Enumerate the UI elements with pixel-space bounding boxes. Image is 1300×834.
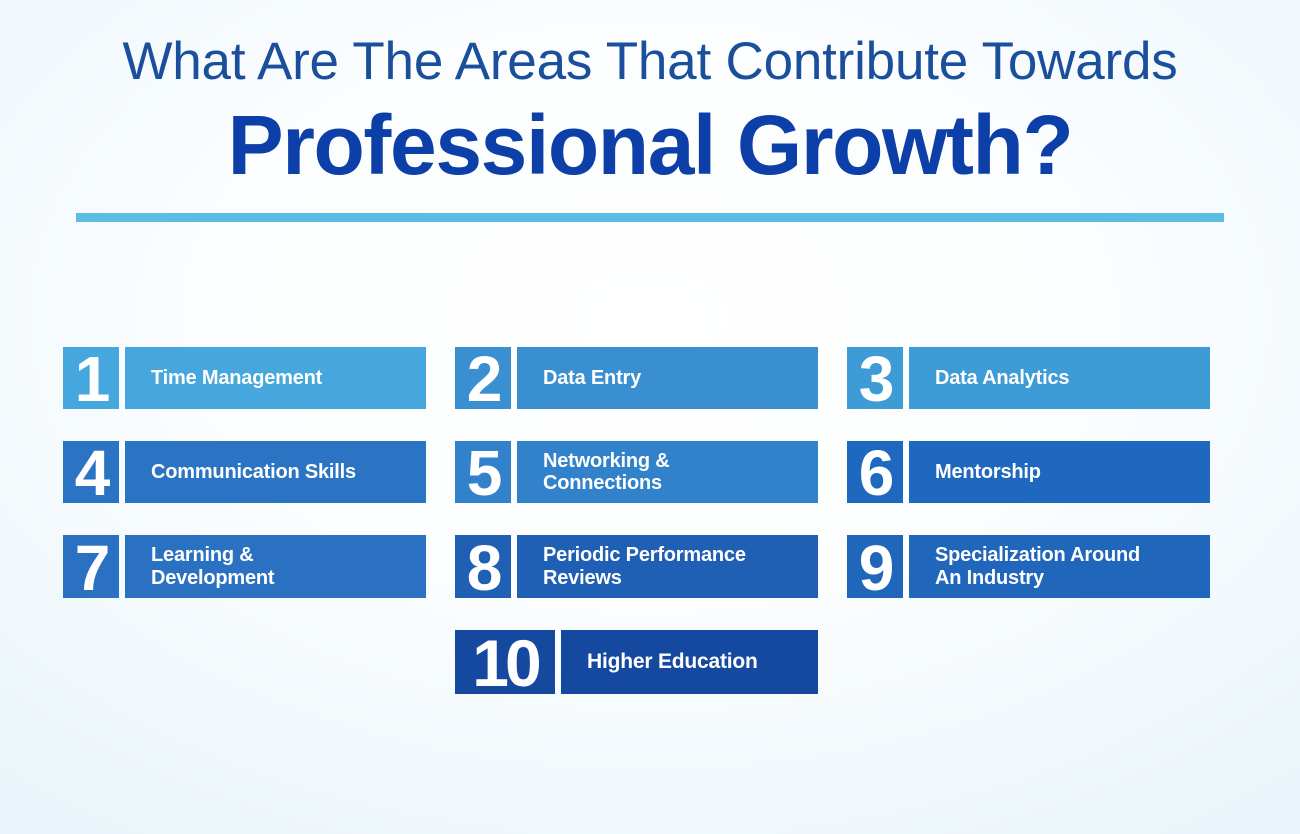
item-label: Specialization Around An Industry: [935, 544, 1140, 589]
item-label: Mentorship: [935, 461, 1041, 483]
list-item[interactable]: 5 Networking & Connections: [455, 441, 818, 503]
item-bar: Learning & Development: [125, 535, 426, 598]
list-item[interactable]: 8 Periodic Performance Reviews: [455, 535, 818, 598]
list-item[interactable]: 6 Mentorship: [847, 441, 1210, 503]
item-bar: Data Analytics: [909, 347, 1210, 409]
header: What Are The Areas That Contribute Towar…: [0, 0, 1300, 222]
item-number: 3: [859, 347, 892, 411]
items-row-2: 4 Communication Skills 5 Networking & Co…: [63, 441, 1210, 503]
item-label: Periodic Performance Reviews: [543, 544, 746, 589]
item-number-block: 1: [63, 347, 119, 409]
item-bar: Periodic Performance Reviews: [517, 535, 818, 598]
items-row-4: 10 Higher Education: [63, 630, 1210, 694]
list-item[interactable]: 9 Specialization Around An Industry: [847, 535, 1210, 598]
item-number-block: 6: [847, 441, 903, 503]
item-number: 2: [467, 347, 500, 411]
item-bar: Data Entry: [517, 347, 818, 409]
item-label: Higher Education: [587, 650, 758, 674]
title-underline-rule: [76, 213, 1224, 222]
item-number-block: 8: [455, 535, 511, 598]
item-number: 7: [75, 536, 108, 600]
infographic-page: What Are The Areas That Contribute Towar…: [0, 0, 1300, 834]
item-number-block: 4: [63, 441, 119, 503]
item-number-block: 5: [455, 441, 511, 503]
list-item[interactable]: 10 Higher Education: [455, 630, 818, 694]
item-number: 4: [75, 441, 108, 505]
item-bar: Specialization Around An Industry: [909, 535, 1210, 598]
list-item[interactable]: 2 Data Entry: [455, 347, 818, 409]
item-label: Learning & Development: [151, 544, 274, 589]
item-number-block: 2: [455, 347, 511, 409]
items-row-3: 7 Learning & Development 8 Periodic Perf…: [63, 535, 1210, 598]
item-number: 10: [472, 630, 537, 696]
list-item[interactable]: 7 Learning & Development: [63, 535, 426, 598]
item-number-block: 10: [455, 630, 555, 694]
page-title: Professional Growth?: [0, 103, 1300, 189]
item-number-block: 9: [847, 535, 903, 598]
item-number: 5: [467, 441, 500, 505]
item-bar: Higher Education: [561, 630, 818, 694]
item-number-block: 7: [63, 535, 119, 598]
list-item[interactable]: 3 Data Analytics: [847, 347, 1210, 409]
items-grid: 1 Time Management 2 Data Entry 3: [63, 347, 1210, 694]
item-number-block: 3: [847, 347, 903, 409]
item-bar: Networking & Connections: [517, 441, 818, 503]
item-number: 6: [859, 441, 892, 505]
item-bar: Communication Skills: [125, 441, 426, 503]
item-label: Time Management: [151, 367, 322, 389]
list-item[interactable]: 4 Communication Skills: [63, 441, 426, 503]
item-bar: Time Management: [125, 347, 426, 409]
item-label: Data Entry: [543, 367, 641, 389]
item-label: Communication Skills: [151, 461, 356, 483]
list-item[interactable]: 1 Time Management: [63, 347, 426, 409]
item-label: Networking & Connections: [543, 450, 670, 495]
kicker-text: What Are The Areas That Contribute Towar…: [0, 34, 1300, 89]
item-label: Data Analytics: [935, 367, 1069, 389]
item-number: 8: [467, 536, 500, 600]
item-number: 9: [859, 536, 892, 600]
items-row-1: 1 Time Management 2 Data Entry 3: [63, 347, 1210, 409]
item-bar: Mentorship: [909, 441, 1210, 503]
item-number: 1: [75, 347, 108, 411]
